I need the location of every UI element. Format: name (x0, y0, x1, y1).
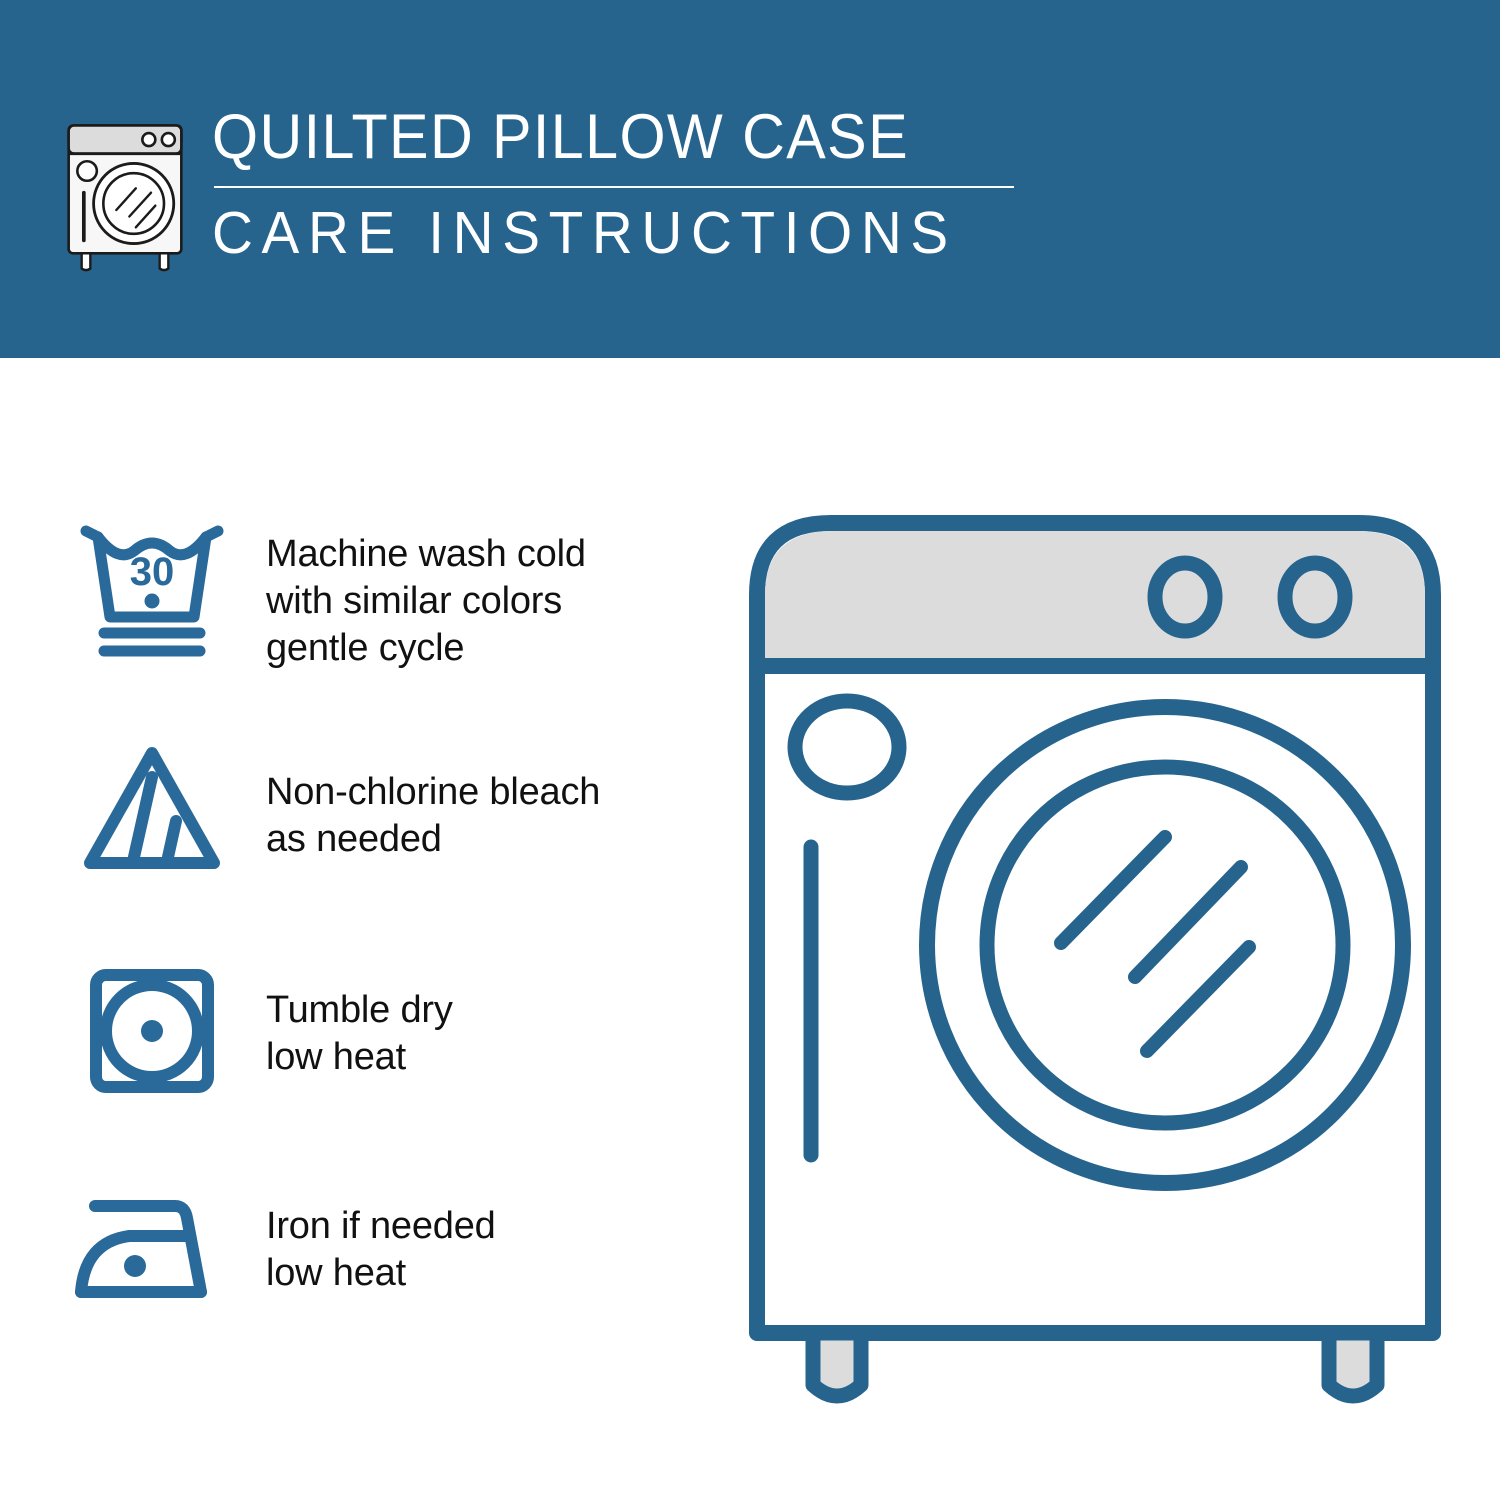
care-line: Non-chlorine bleach (266, 769, 702, 816)
care-text-machine-wash: Machine wash cold with similar colors ge… (242, 505, 702, 672)
care-instruction-list: 30 Machine wash cold with similar colors… (62, 505, 702, 1393)
knob-right (1285, 563, 1345, 631)
care-row-machine-wash: 30 Machine wash cold with similar colors… (62, 505, 702, 727)
detergent-dispenser-circle (795, 701, 899, 793)
care-line: Iron if needed (266, 1203, 702, 1250)
header-title-group: QUILTED PILLOW CASE CARE INSTRUCTIONS (212, 100, 1014, 266)
page-header: QUILTED PILLOW CASE CARE INSTRUCTIONS (0, 0, 1500, 358)
care-line: low heat (266, 1250, 702, 1297)
care-line: Tumble dry (266, 987, 702, 1034)
leg-left (813, 1333, 861, 1396)
page-subtitle: CARE INSTRUCTIONS (212, 200, 982, 266)
care-line: low heat (266, 1034, 702, 1081)
care-text-tumble-dry: Tumble dry low heat (242, 949, 702, 1081)
front-load-washing-machine-illustration (735, 495, 1455, 1425)
care-row-tumble-dry: Tumble dry low heat (62, 949, 702, 1171)
leg-right (1329, 1333, 1377, 1396)
care-line: Machine wash cold (266, 531, 702, 578)
care-instructions-page: QUILTED PILLOW CASE CARE INSTRUCTIONS (0, 0, 1500, 1500)
wash-tub-30-icon: 30 (62, 505, 242, 670)
care-line: as needed (266, 816, 702, 863)
tumble-dry-low-icon (62, 949, 242, 1114)
care-line: with similar colors (266, 578, 702, 625)
care-row-iron: Iron if needed low heat (62, 1171, 702, 1393)
care-row-bleach: Non-chlorine bleach as needed (62, 727, 702, 949)
header-content: QUILTED PILLOW CASE CARE INSTRUCTIONS (60, 100, 1014, 273)
iron-low-heat-icon (62, 1171, 242, 1336)
wash-temperature-label: 30 (130, 550, 175, 594)
title-divider (214, 186, 1014, 188)
knob-left (1155, 563, 1215, 631)
page-title: QUILTED PILLOW CASE (212, 102, 966, 172)
care-text-iron: Iron if needed low heat (242, 1171, 702, 1297)
non-chlorine-bleach-triangle-icon (62, 727, 242, 892)
care-line: gentle cycle (266, 625, 702, 672)
care-text-bleach: Non-chlorine bleach as needed (242, 727, 702, 863)
washing-machine-icon (60, 108, 190, 273)
